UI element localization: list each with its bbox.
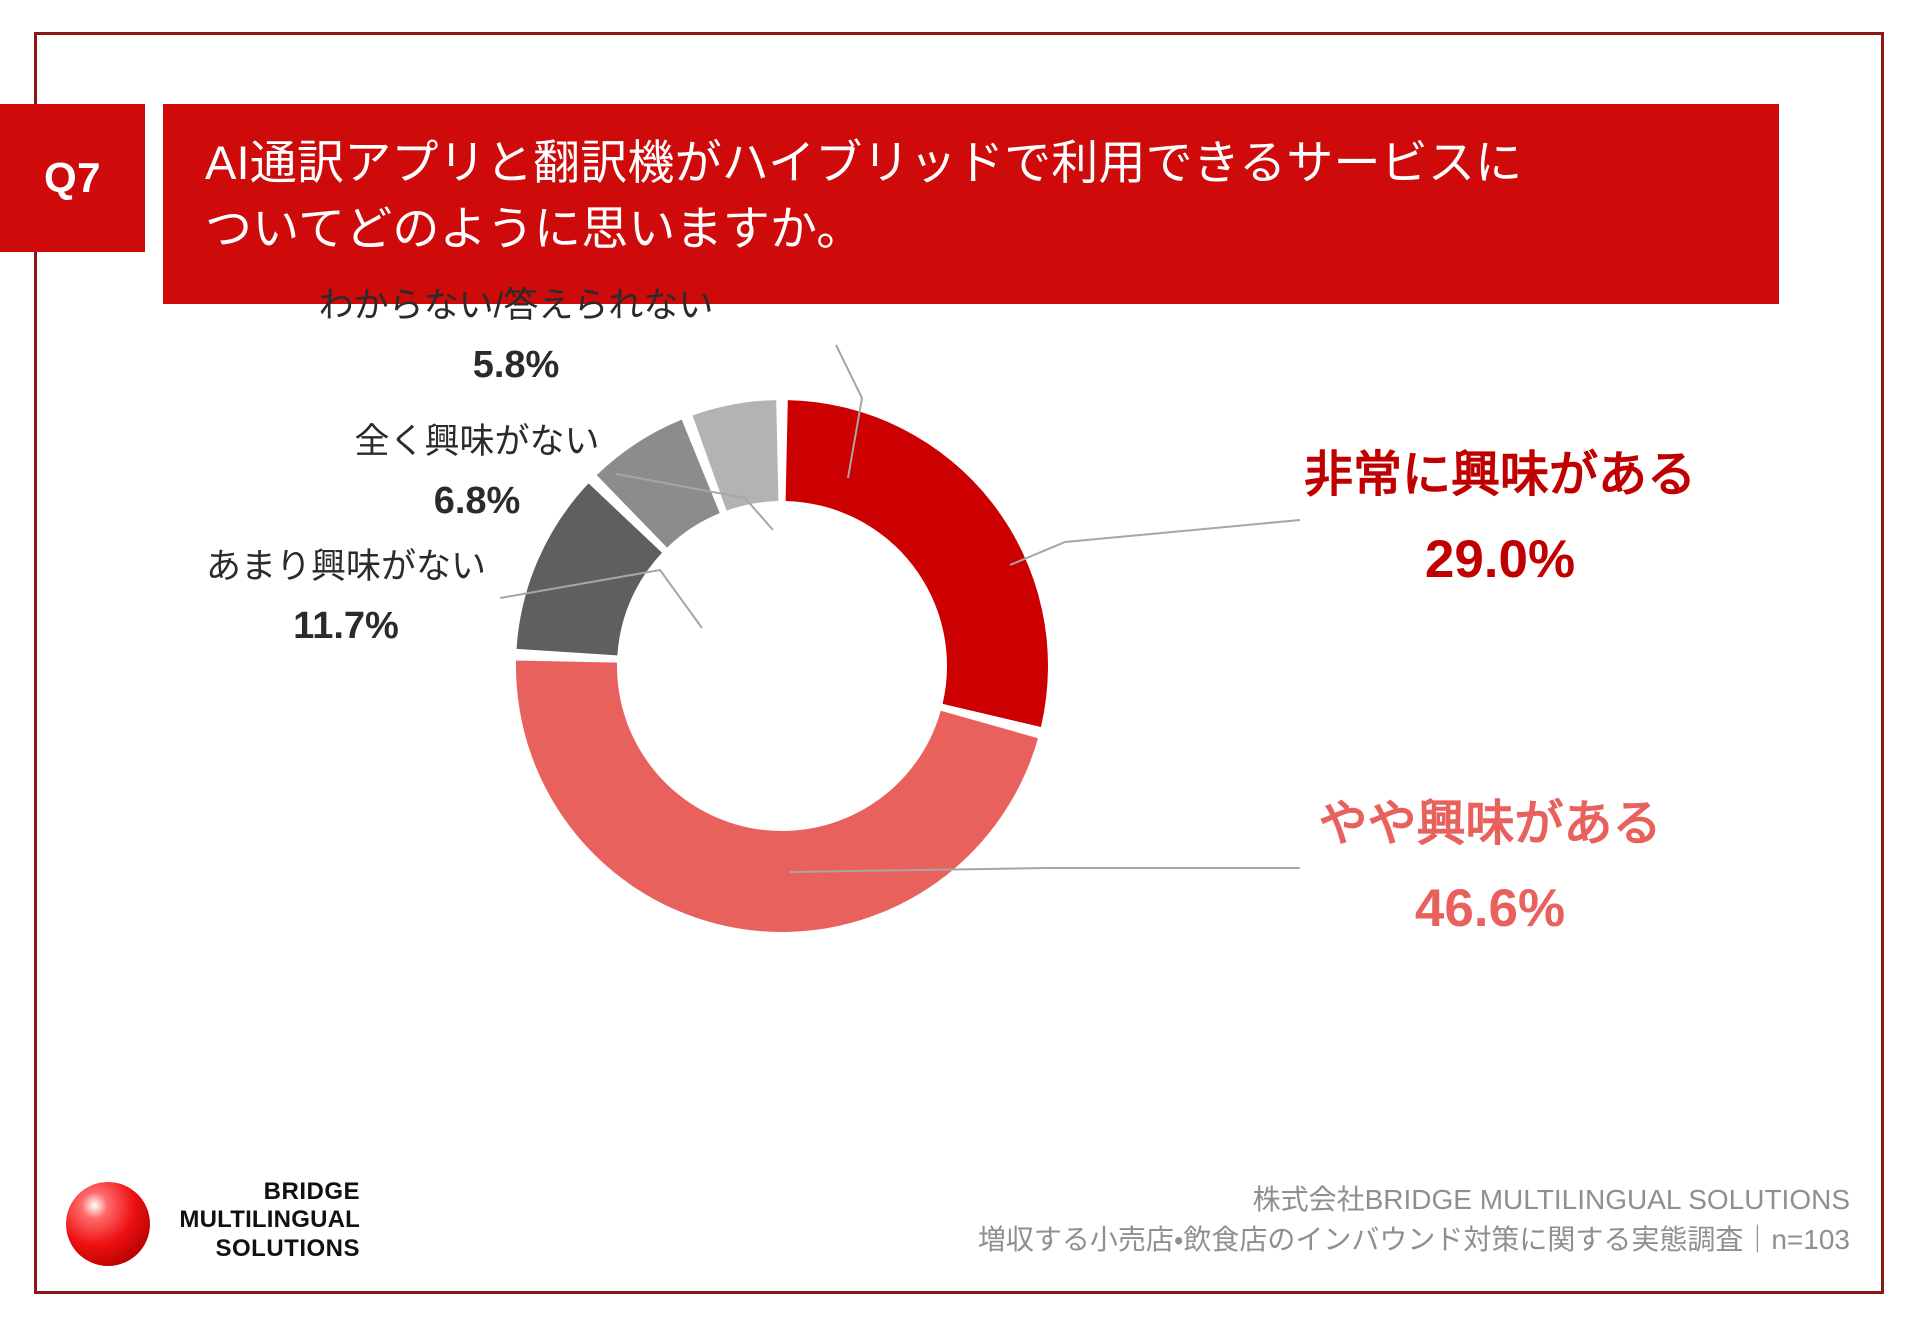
logo-line-1: BRIDGE — [160, 1178, 360, 1206]
callout-very-category: 非常に興味がある — [1220, 444, 1780, 508]
logo-line-2: MULTILINGUAL — [160, 1206, 360, 1234]
callout-unknown-category: わからない/答えられない — [236, 283, 796, 329]
donut-slice[interactable] — [786, 400, 1048, 727]
footer-attribution: 株式会社BRIDGE MULTILINGUAL SOLUTIONS 増収する小売… — [978, 1180, 1850, 1260]
slide-root: Q7 AI通訳アプリと翻訳機がハイブリッドで利用できるサービスに ついてどのよう… — [0, 0, 1920, 1329]
footer-company: 株式会社BRIDGE MULTILINGUAL SOLUTIONS — [978, 1180, 1850, 1220]
callout-none-value: 6.8% — [207, 477, 747, 526]
footer-survey: 増収する小売店・飲食店のインバウンド対策に関する実態調査｜n=103 — [978, 1220, 1850, 1260]
company-logo: BRIDGE MULTILINGUAL SOLUTIONS — [60, 1170, 360, 1278]
callout-very: 非常に興味がある 29.0% — [1220, 444, 1780, 595]
callout-none: 全く興味がない 6.8% — [207, 419, 747, 526]
callout-unknown: わからない/答えられない 5.8% — [236, 283, 796, 390]
callout-none-category: 全く興味がない — [207, 419, 747, 465]
callout-little-value: 11.7% — [76, 602, 616, 651]
callout-very-value: 29.0% — [1220, 526, 1780, 595]
donut-chart-svg — [0, 0, 1920, 1329]
callout-little: あまり興味がない 11.7% — [76, 544, 616, 651]
callout-somewhat: やや興味がある 46.6% — [1210, 793, 1770, 944]
logo-wordmark: BRIDGE MULTILINGUAL SOLUTIONS — [160, 1178, 360, 1263]
callout-little-category: あまり興味がない — [76, 544, 616, 590]
logo-sphere-icon — [66, 1182, 150, 1266]
callout-somewhat-value: 46.6% — [1210, 875, 1770, 944]
callout-somewhat-category: やや興味がある — [1210, 793, 1770, 857]
callout-unknown-value: 5.8% — [236, 341, 796, 390]
logo-line-3: SOLUTIONS — [160, 1235, 360, 1263]
donut-chart: わからない/答えられない 5.8% 全く興味がない 6.8% あまり興味がない … — [0, 0, 1920, 1329]
